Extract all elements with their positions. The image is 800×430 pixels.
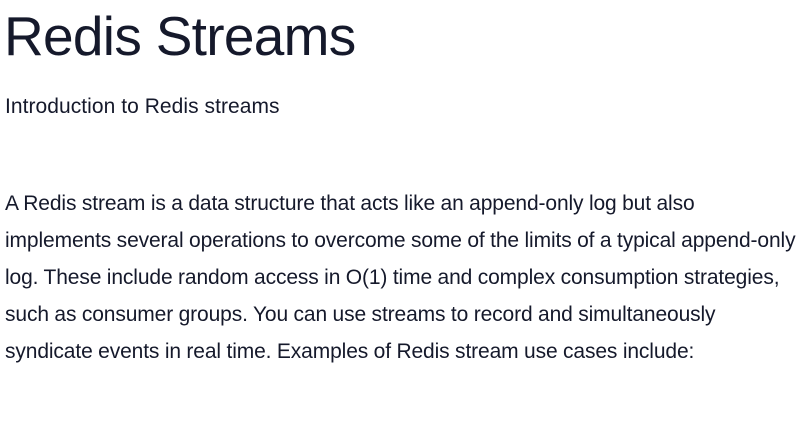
page-subtitle: Introduction to Redis streams: [5, 92, 280, 122]
document-page: Redis Streams Introduction to Redis stre…: [0, 0, 800, 430]
body-paragraph: A Redis stream is a data structure that …: [5, 185, 800, 370]
page-title: Redis Streams: [4, 2, 356, 70]
